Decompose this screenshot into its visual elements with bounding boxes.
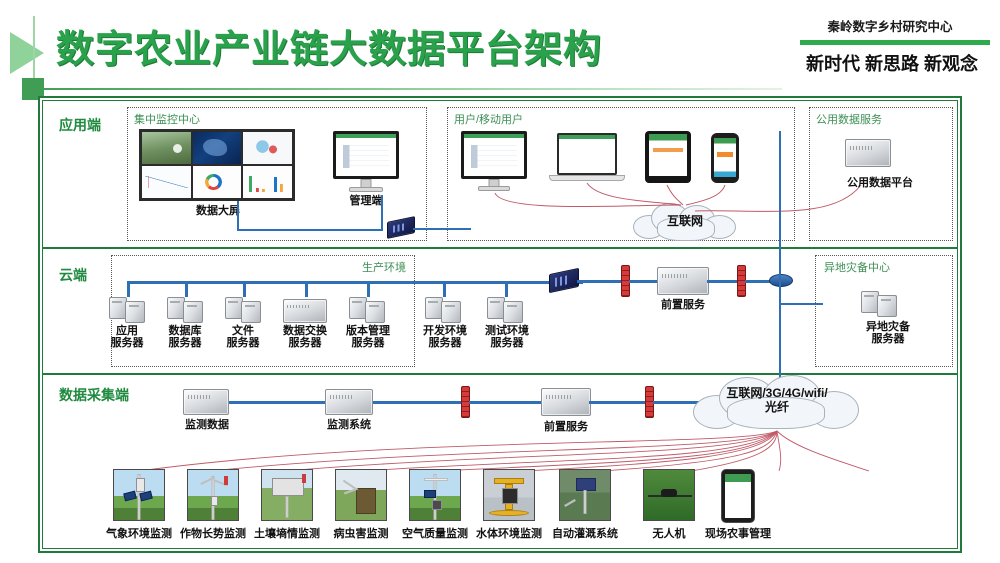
label-monitor-system: 监测系统 xyxy=(311,419,387,431)
group-title-production-env: 生产环境 xyxy=(362,259,406,275)
wire-bigscreen-to-switch xyxy=(237,229,383,231)
label-dev-server: 开发环境 服务器 xyxy=(411,325,479,350)
network-cloud: 互联网/3G/4G/wifi/ 光纤 xyxy=(693,375,861,431)
admin-monitor[interactable] xyxy=(333,131,399,179)
edge-front-service-icon xyxy=(541,388,591,416)
org-name: 秦岭数字乡村研究中心 xyxy=(790,16,990,35)
app-server-icon-b xyxy=(125,301,145,323)
wire-switch-to-fw1 xyxy=(577,280,625,283)
user-laptop-base xyxy=(549,175,625,181)
screen-panel-line-chart xyxy=(142,166,191,198)
label-front-service-cloud: 前置服务 xyxy=(647,299,719,311)
brand-divider xyxy=(800,40,990,45)
sensor-farmapp[interactable]: 现场农事管理 xyxy=(721,469,755,523)
label-test-server: 测试环境 服务器 xyxy=(473,325,541,350)
label-admin-terminal: 管理端 xyxy=(331,195,401,207)
cloud-backbone-bus xyxy=(127,281,583,284)
network-cloud-label: 互联网/3G/4G/wifi/ 光纤 xyxy=(693,387,861,415)
label-sensor-farmapp: 现场农事管理 xyxy=(705,525,771,541)
user-desktop-monitor[interactable] xyxy=(461,131,527,179)
exchange-server-icon xyxy=(283,299,327,323)
drop-exchange-server xyxy=(305,281,308,297)
sensor-drone[interactable]: 无人机 xyxy=(643,469,695,521)
monitor-system-server-icon xyxy=(325,389,373,415)
dev-server-icon-b xyxy=(441,301,461,323)
layer-edge: 数据采集端 监测数据 监测系统 前置服务 xyxy=(43,375,957,552)
layer-label-application: 应用端 xyxy=(59,115,101,135)
label-sensor-irrigation: 自动灌溉系统 xyxy=(552,525,618,541)
org-slogan: 新时代 新思路 新观念 xyxy=(792,50,992,76)
internet-cloud-label: 互联网 xyxy=(631,215,739,229)
drop-app-server xyxy=(127,281,130,297)
diagram-root: 数字农业产业链大数据平台架构 秦岭数字乡村研究中心 新时代 新思路 新观念 应用… xyxy=(0,0,1000,563)
header-horizontal-rule xyxy=(22,88,782,90)
drop-db-server xyxy=(185,281,188,297)
user-tablet[interactable] xyxy=(645,131,691,183)
screen-panel-china-map xyxy=(243,132,292,164)
sensor-pest[interactable]: 病虫害监测 xyxy=(335,469,387,521)
wire-front-to-fw2 xyxy=(707,280,739,283)
test-server-icon-b xyxy=(503,301,523,323)
label-sensor-crop: 作物长势监测 xyxy=(180,525,246,541)
label-edge-front-service: 前置服务 xyxy=(527,421,605,433)
label-sensor-pest: 病虫害监测 xyxy=(334,525,389,541)
group-title-user-mobile: 用户/移动用户 xyxy=(454,111,523,127)
group-title-dr-center: 异地灾备中心 xyxy=(824,259,890,275)
front-service-server-icon xyxy=(657,267,709,295)
label-sensor-weather: 气象环境监测 xyxy=(106,525,172,541)
page-title: 数字农业产业链大数据平台架构 xyxy=(56,18,602,73)
label-db-server: 数据库 服务器 xyxy=(153,325,217,350)
screen-panel-video xyxy=(142,132,191,164)
header-triangle-decoration xyxy=(10,32,44,74)
sensor-air[interactable]: 空气质量监测 xyxy=(409,469,461,521)
label-monitor-data: 监测数据 xyxy=(169,419,245,431)
router-icon xyxy=(769,274,793,287)
wire-front-to-fw2-edge xyxy=(589,401,649,404)
label-sensor-water: 水体环境监测 xyxy=(476,525,542,541)
drop-test-server xyxy=(505,281,508,297)
monitor-base xyxy=(349,187,383,192)
drop-file-server xyxy=(243,281,246,297)
label-exchange-server: 数据交换 服务器 xyxy=(271,325,339,350)
group-title-monitor-center: 集中监控中心 xyxy=(134,111,200,127)
file-server-icon-b xyxy=(241,301,261,323)
sensor-soil[interactable]: 土壤墒情监测 xyxy=(261,469,313,521)
layer-label-cloud: 云端 xyxy=(59,265,87,285)
monitor-data-server-icon xyxy=(183,389,229,415)
public-data-server-icon xyxy=(845,139,891,167)
group-public-data: 公用数据服务 xyxy=(809,107,953,241)
layer-label-edge: 数据采集端 xyxy=(59,385,129,405)
wire-admin-down xyxy=(381,195,383,230)
label-sensor-soil: 土壤墒情监测 xyxy=(254,525,320,541)
user-laptop-screen[interactable] xyxy=(557,133,617,175)
version-server-icon-b xyxy=(365,301,385,323)
screen-panel-donut-chart xyxy=(193,166,242,198)
user-phone[interactable] xyxy=(711,133,739,183)
sensor-crop[interactable]: 作物长势监测 xyxy=(187,469,239,521)
wire-fw-to-front xyxy=(469,401,545,404)
db-server-icon-b xyxy=(183,301,203,323)
sensor-water[interactable]: 水体环境监测 xyxy=(483,469,535,521)
label-dr-server: 异地灾备 服务器 xyxy=(843,321,933,346)
data-big-screen[interactable] xyxy=(139,129,295,201)
layer-application: 应用端 集中监控中心 数据大屏 管理端 xyxy=(43,101,957,249)
wire-trunk-up-to-app xyxy=(779,131,781,281)
label-public-data-platform: 公用数据平台 xyxy=(825,177,935,189)
cloud-switch-icon xyxy=(549,268,579,293)
internet-cloud: 互联网 xyxy=(631,201,739,241)
sensor-weather[interactable]: 气象环境监测 xyxy=(113,469,165,521)
drop-version-server xyxy=(367,281,370,297)
drop-dev-server xyxy=(443,281,446,297)
user-monitor-base xyxy=(478,186,510,191)
wire-data-to-system xyxy=(229,401,325,404)
label-version-server: 版本管理 服务器 xyxy=(333,325,403,350)
label-sensor-air: 空气质量监测 xyxy=(402,525,468,541)
label-file-server: 文件 服务器 xyxy=(211,325,275,350)
sensor-irrigation[interactable]: 自动灌溉系统 xyxy=(559,469,611,521)
dr-server-icon-b xyxy=(877,295,897,317)
label-app-server: 应用 服务器 xyxy=(95,325,159,350)
layer-cloud: 云端 生产环境 应用 服务器 数据库 服务器 文件 服务器 xyxy=(43,249,957,375)
architecture-frame: 应用端 集中监控中心 数据大屏 管理端 xyxy=(38,96,962,553)
wire-bigscreen-down xyxy=(237,201,239,231)
wire-system-to-fw xyxy=(373,401,463,404)
screen-panel-bar-chart xyxy=(243,166,292,198)
group-title-public-data: 公用数据服务 xyxy=(816,111,882,127)
screen-panel-geo-map xyxy=(193,132,242,164)
label-data-big-screen: 数据大屏 xyxy=(163,205,273,217)
label-sensor-drone: 无人机 xyxy=(653,525,686,541)
